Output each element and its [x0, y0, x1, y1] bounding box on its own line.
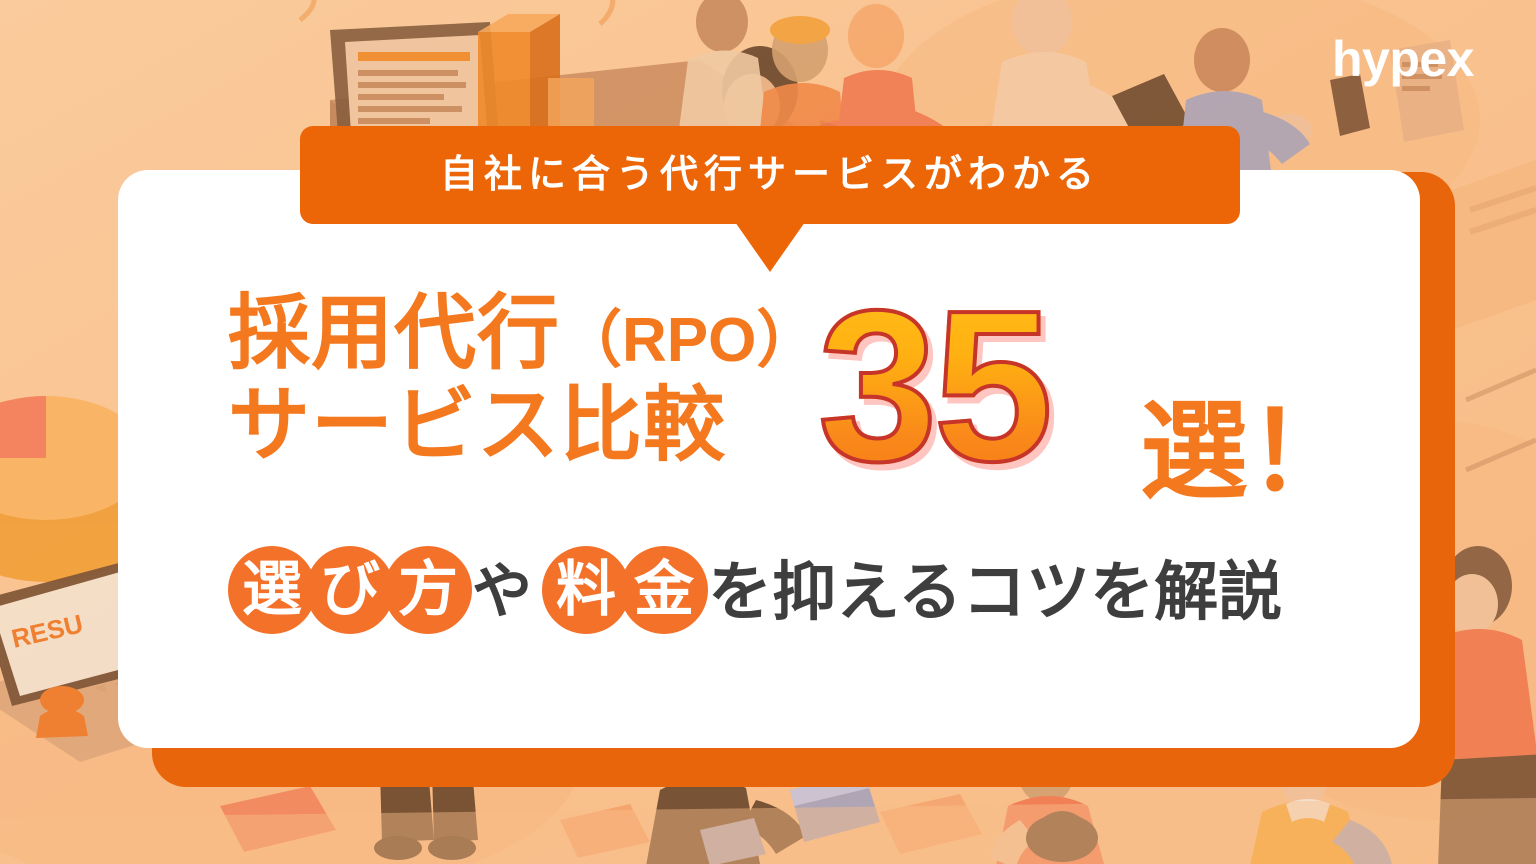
headline-count-number: 35	[818, 278, 1049, 493]
ribbon-banner: 自社に合う代行サービスがわかる	[300, 126, 1240, 224]
subtitle-pill-char: び	[306, 546, 394, 634]
headline-line-1: 採用代行（RPO）	[228, 288, 868, 380]
ribbon-text: 自社に合う代行サービスがわかる	[440, 156, 1100, 194]
subtitle-pill-char: 料	[542, 546, 630, 634]
subtitle-tail: を抑えるコツを解説	[708, 560, 1282, 624]
ribbon-tail-pointer	[735, 222, 805, 272]
subtitle-pill-char: 方	[384, 546, 472, 634]
subtitle-connector: や	[472, 562, 532, 622]
headline-line1-paren: （RPO）	[560, 306, 818, 375]
poster-canvas: RESU	[0, 0, 1536, 864]
subtitle-pill-char: 選	[228, 546, 316, 634]
headline-left-lines: 採用代行（RPO） サービス比較	[228, 288, 868, 472]
headline-line1-main: 採用代行	[228, 288, 560, 379]
brand-logo: hypex	[1332, 34, 1474, 84]
subtitle-pill-char: 金	[620, 546, 708, 634]
count-number-value: 35	[818, 265, 1049, 506]
subtitle-line: 選 び 方 や 料 金 を抑えるコツを解説	[228, 540, 1284, 640]
headline-count-suffix: 選！	[1140, 398, 1356, 506]
headline-line-2: サービス比較	[228, 380, 868, 472]
